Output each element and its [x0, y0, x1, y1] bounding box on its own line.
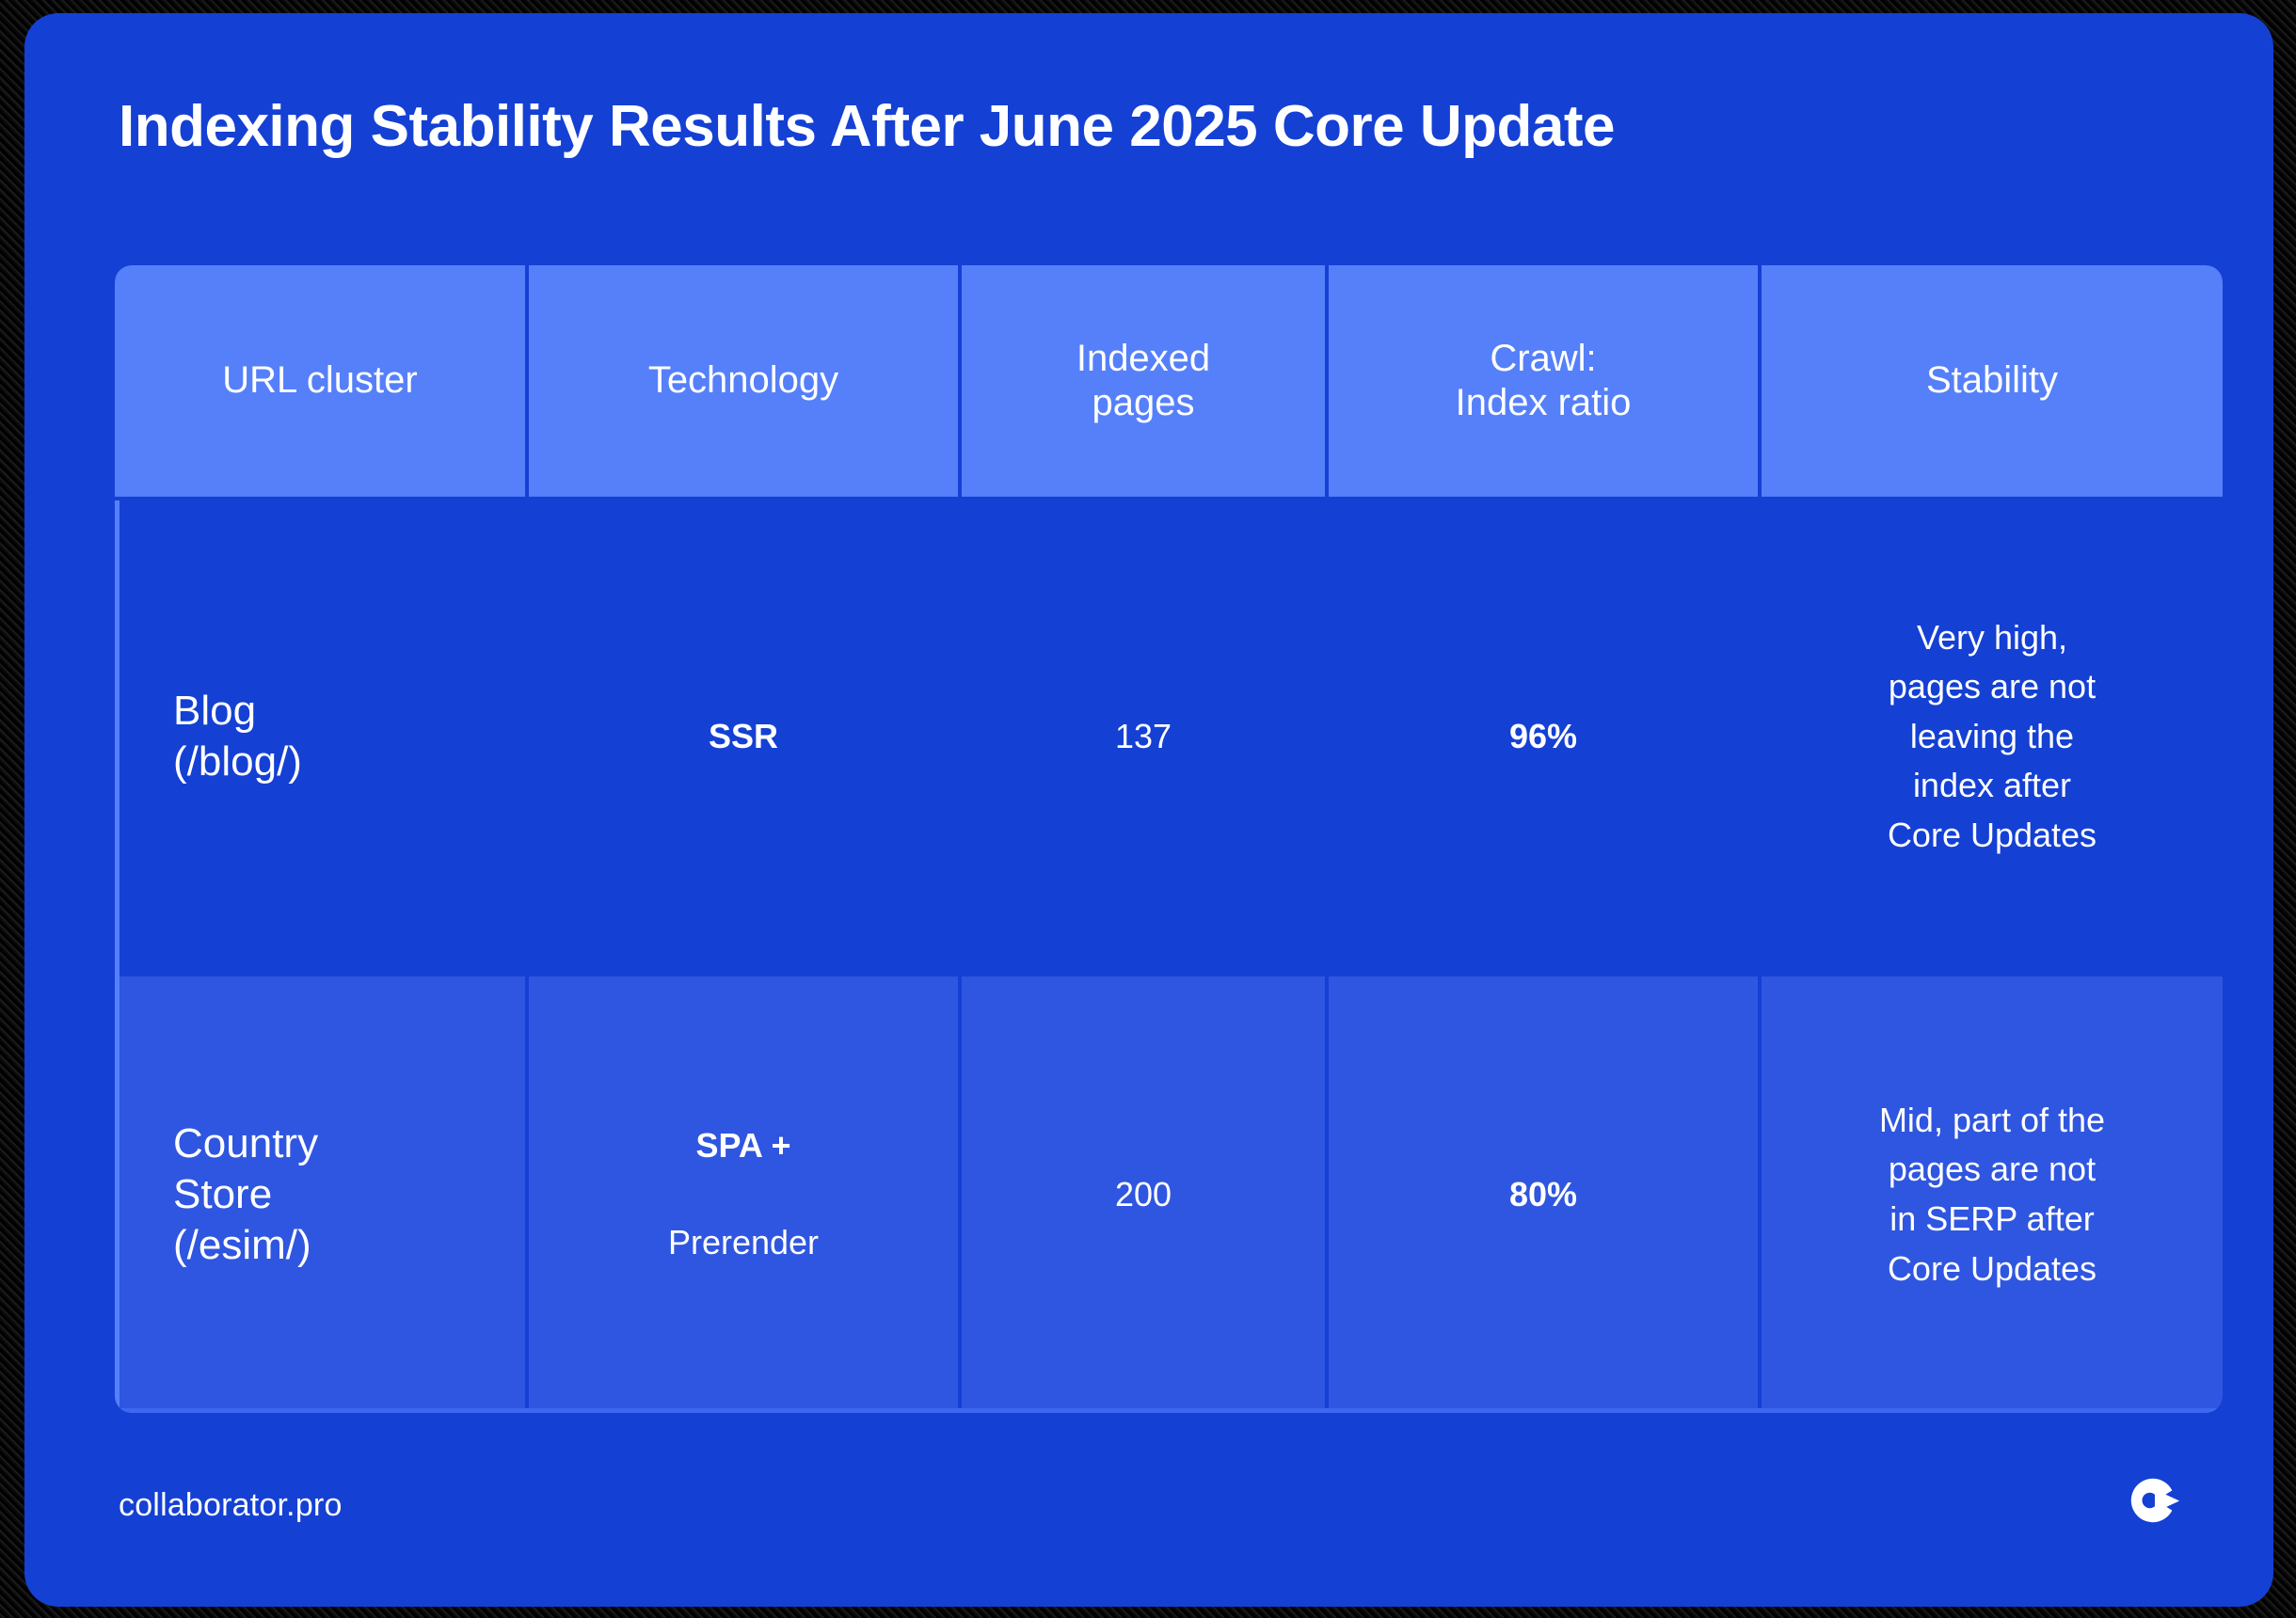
- collaborator-logo-icon: [2125, 1471, 2183, 1530]
- page-title: Indexing Stability Results After June 20…: [119, 96, 2208, 159]
- technology-secondary: Prerender: [668, 1221, 819, 1265]
- stability-text: Very high, pages are not leaving the ind…: [1888, 613, 2097, 861]
- cell-indexed-pages: 200: [962, 976, 1325, 1413]
- results-table: URL cluster Technology Indexed pages Cra…: [115, 265, 2223, 1413]
- column-header-indexed-pages: Indexed pages: [962, 265, 1325, 497]
- cell-crawl-index-ratio: 96%: [1329, 500, 1758, 973]
- infographic-card: Indexing Stability Results After June 20…: [24, 13, 2273, 1607]
- column-header-crawl-index-ratio: Crawl: Index ratio: [1329, 265, 1758, 497]
- cell-crawl-index-ratio: 80%: [1329, 976, 1758, 1413]
- cell-url-cluster: Country Store (/esim/): [115, 976, 525, 1413]
- cell-stability: Mid, part of the pages are not in SERP a…: [1762, 976, 2223, 1413]
- stability-text: Mid, part of the pages are not in SERP a…: [1879, 1096, 2105, 1293]
- technology-primary: SPA +: [668, 1124, 819, 1168]
- table-row: Country Store (/esim/) SPA + Prerender 2…: [115, 976, 2223, 1413]
- cell-stability: Very high, pages are not leaving the ind…: [1762, 500, 2223, 973]
- cell-indexed-pages: 137: [962, 500, 1325, 973]
- table-row: Blog (/blog/) SSR 137 96% Very high, pag…: [115, 500, 2223, 973]
- footer-website-url: collaborator.pro: [119, 1487, 343, 1524]
- table-header-row: URL cluster Technology Indexed pages Cra…: [115, 265, 2223, 497]
- column-header-url-cluster: URL cluster: [115, 265, 525, 497]
- cell-technology: SSR: [529, 500, 958, 973]
- column-header-technology: Technology: [529, 265, 958, 497]
- cell-technology: SPA + Prerender: [529, 976, 958, 1413]
- cell-url-cluster: Blog (/blog/): [115, 500, 525, 973]
- technology-primary: SSR: [709, 715, 778, 759]
- column-header-stability: Stability: [1762, 265, 2223, 497]
